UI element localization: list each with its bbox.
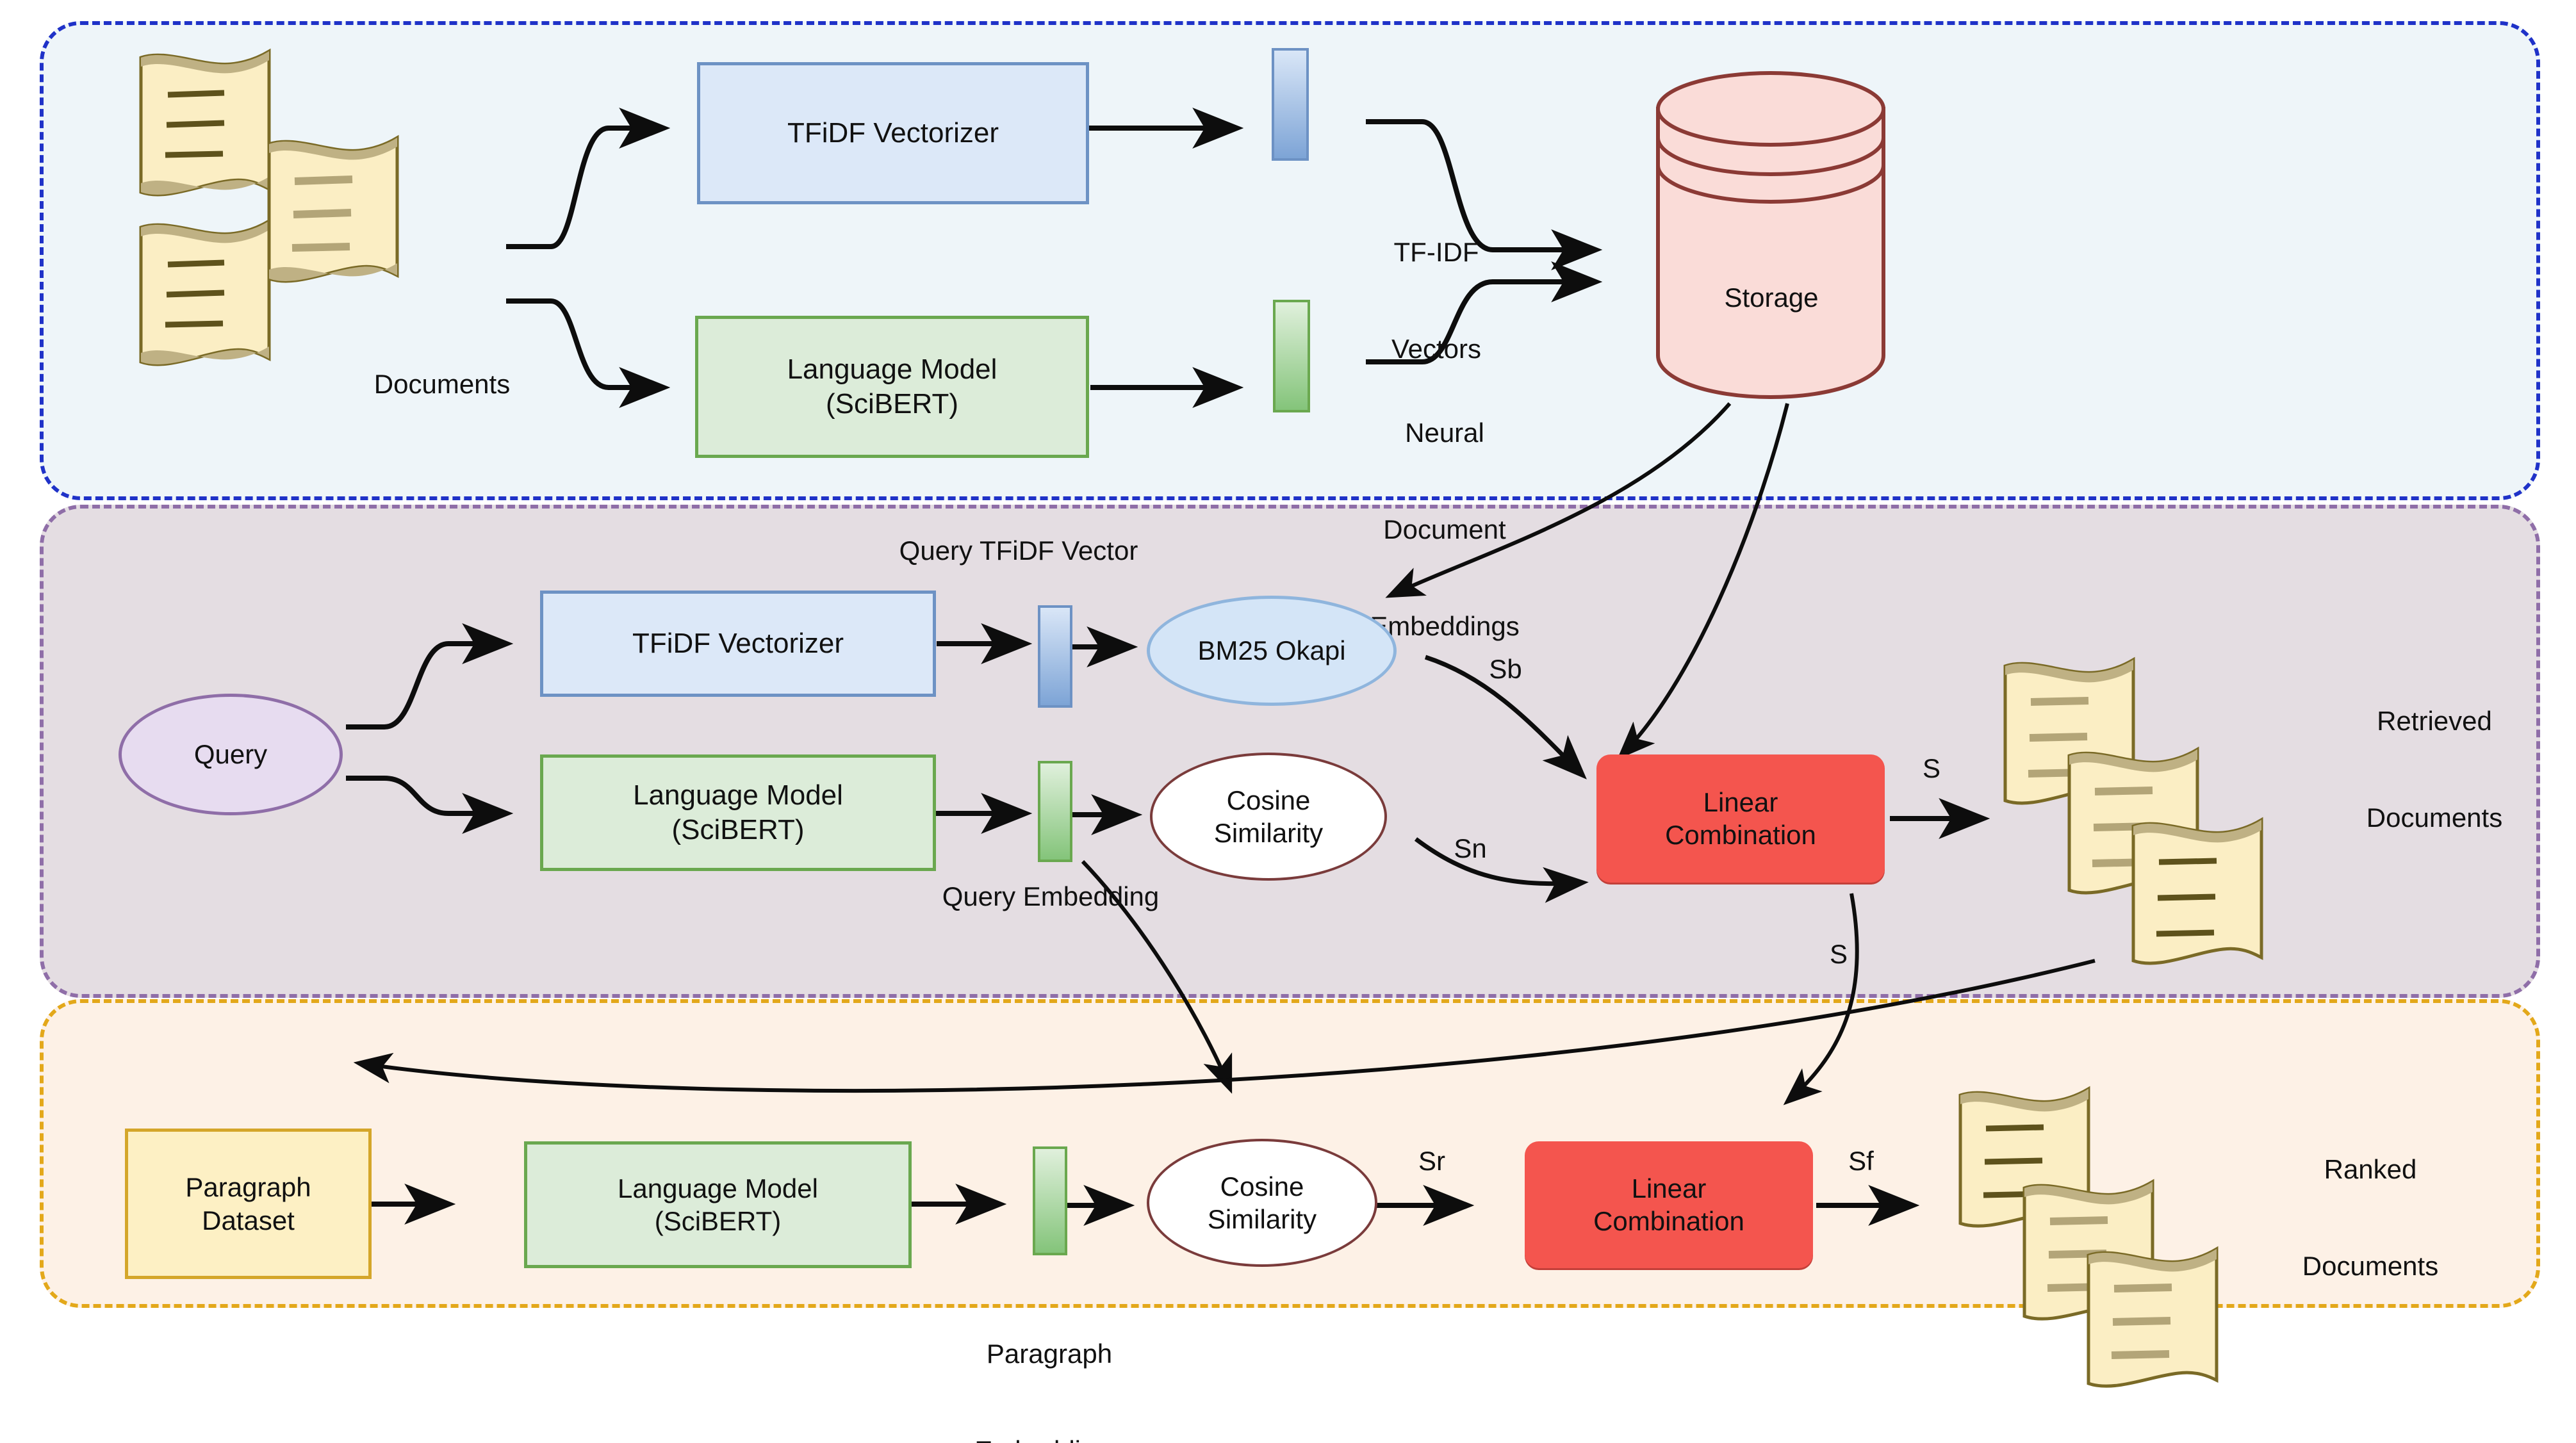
retrieved-documents-caption: Retrieved Documents (2300, 640, 2569, 899)
query-lm-label-line1: Language Model (633, 778, 843, 813)
ranking-linear-line1: Linear (1593, 1172, 1744, 1205)
indexing-tfidf-label: TFiDF Vectorizer (787, 116, 999, 151)
query-embedding-caption: Query Embedding (890, 881, 1211, 913)
ranking-lm-line2: (SciBERT) (618, 1205, 818, 1237)
query-linear-line2: Combination (1665, 819, 1816, 851)
query-tfidf-label: TFiDF Vectorizer (632, 626, 844, 661)
documents-caption: Documents (340, 368, 545, 400)
score-s-down-label: S (1813, 938, 1864, 970)
score-sn-label: Sn (1441, 833, 1499, 865)
ranked-documents-caption: Ranked Documents (2236, 1089, 2505, 1347)
paragraph-embedding-bar (1033, 1146, 1067, 1255)
indexing-lm-label-line2: (SciBERT) (787, 387, 997, 421)
query-cosine-line1: Cosine (1214, 784, 1323, 817)
ranking-linear-combination-box[interactable]: Linear Combination (1525, 1141, 1813, 1268)
ranking-cosine-line2: Similarity (1208, 1203, 1317, 1235)
score-s-label: S (1906, 753, 1957, 785)
query-cosine-line2: Similarity (1214, 817, 1323, 849)
query-linear-combination-box[interactable]: Linear Combination (1596, 754, 1885, 883)
query-tfidf-vectorizer-box[interactable]: TFiDF Vectorizer (540, 591, 936, 697)
ranking-linear-line2: Combination (1593, 1205, 1744, 1237)
query-tfidf-vector-bar (1038, 605, 1072, 708)
paragraph-dataset-line1: Paragraph (185, 1171, 311, 1203)
score-sr-label: Sr (1403, 1145, 1461, 1177)
query-cosine-similarity-node[interactable]: Cosine Similarity (1150, 753, 1387, 881)
diagram-canvas: TFiDF Vectorizer Language Model (SciBERT… (0, 0, 2576, 1443)
ranking-language-model-box[interactable]: Language Model (SciBERT) (524, 1141, 912, 1268)
query-node[interactable]: Query (119, 694, 343, 815)
ranking-lm-line1: Language Model (618, 1172, 818, 1205)
indexing-lm-label-line1: Language Model (787, 352, 997, 387)
query-embedding-bar (1038, 761, 1072, 862)
score-sf-label: Sf (1832, 1145, 1890, 1177)
neural-embedding-bar (1273, 300, 1310, 412)
query-lm-label-line2: (SciBERT) (633, 813, 843, 847)
ranking-cosine-line1: Cosine (1208, 1170, 1317, 1203)
bm25-okapi-node[interactable]: BM25 Okapi (1147, 596, 1397, 706)
panel-query (40, 505, 2540, 998)
indexing-language-model-box[interactable]: Language Model (SciBERT) (695, 316, 1089, 458)
query-language-model-box[interactable]: Language Model (SciBERT) (540, 754, 936, 871)
query-linear-line1: Linear (1665, 786, 1816, 819)
storage-label: Storage (1698, 282, 1845, 314)
query-label: Query (194, 738, 267, 770)
paragraph-dataset-line2: Dataset (185, 1204, 311, 1237)
ranking-cosine-similarity-node[interactable]: Cosine Similarity (1147, 1139, 1377, 1267)
indexing-tfidf-vectorizer-box[interactable]: TFiDF Vectorizer (697, 62, 1089, 204)
paragraph-dataset-box[interactable]: Paragraph Dataset (125, 1129, 372, 1279)
query-tfidf-vector-caption: Query TFiDF Vector (839, 535, 1198, 567)
bm25-label: BM25 Okapi (1197, 634, 1345, 667)
tfidf-vector-bar (1272, 48, 1309, 161)
paragraph-embeddings-caption: Paragraph Embeddings (928, 1273, 1171, 1443)
score-sb-label: Sb (1477, 653, 1534, 685)
